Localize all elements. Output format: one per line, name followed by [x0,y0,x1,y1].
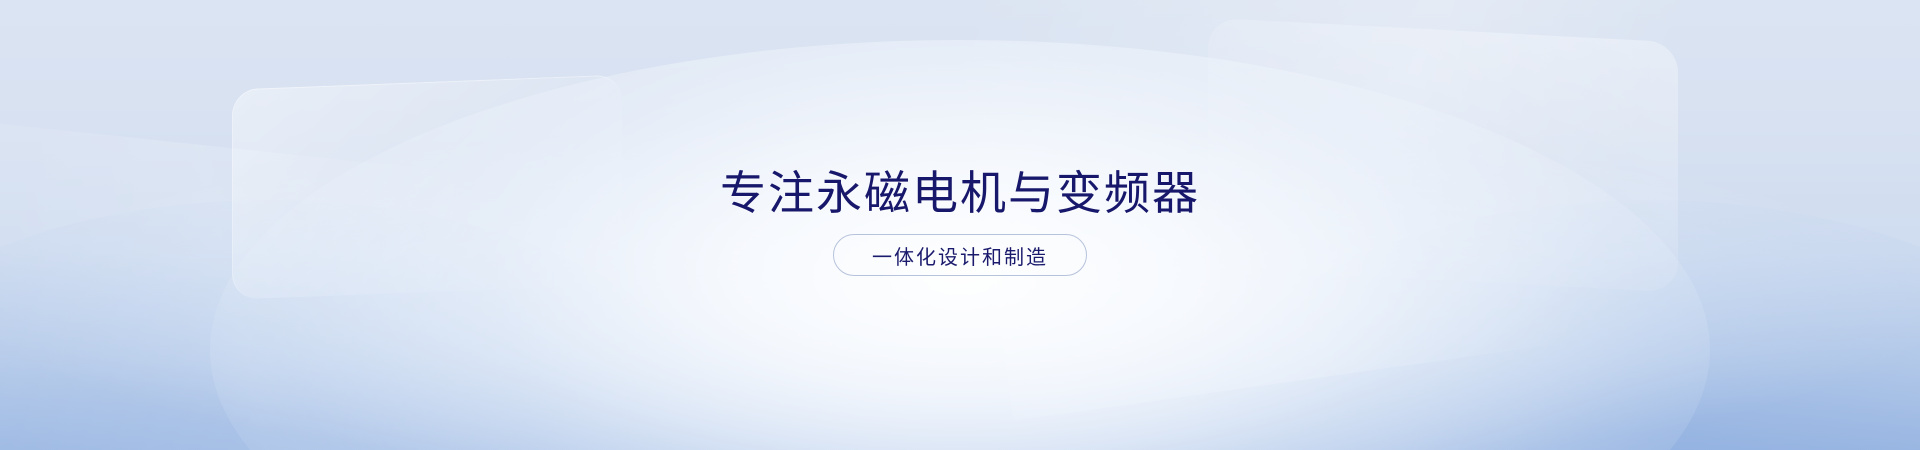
hero-banner: 专注永磁电机与变频器 一体化设计和制造 [0,0,1920,450]
banner-headline: 专注永磁电机与变频器 [720,168,1200,219]
banner-subtitle-pill: 一体化设计和制造 [833,234,1087,276]
banner-content: 专注永磁电机与变频器 一体化设计和制造 [0,0,1920,450]
